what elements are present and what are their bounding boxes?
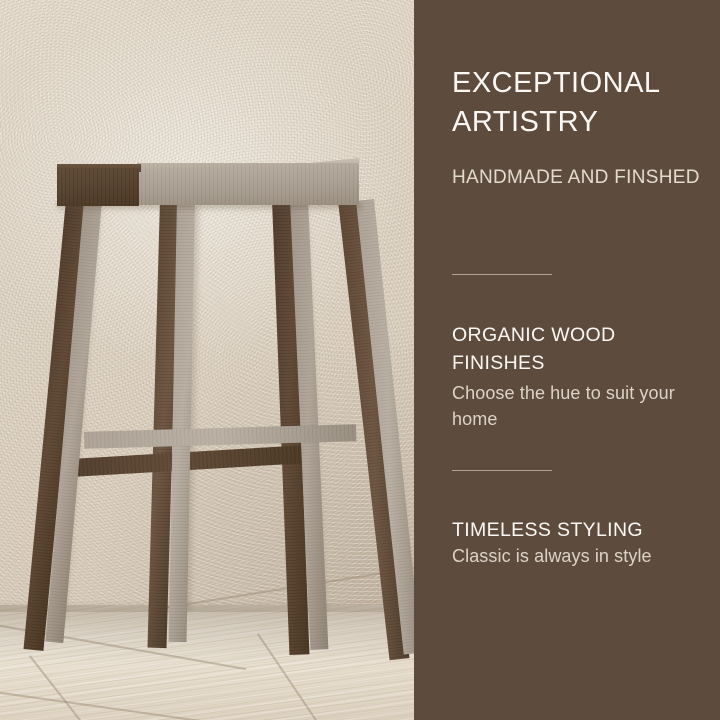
panel-subtitle: HANDMADE AND FINSHED (452, 164, 702, 192)
stool-seat-dark-end (57, 168, 139, 206)
product-photo (0, 0, 414, 720)
feature-1-heading: ORGANIC WOOD FINISHES (452, 322, 704, 377)
marketing-text-panel: EXCEPTIONAL ARTISTRY HANDMADE AND FINSHE… (414, 0, 720, 720)
stool-seat-light (137, 163, 359, 205)
feature-1-body: Choose the hue to suit your home (452, 380, 702, 432)
promo-banner: EXCEPTIONAL ARTISTRY HANDMADE AND FINSHE… (0, 0, 720, 720)
section-divider (452, 274, 552, 275)
feature-2-body: Classic is always in style (452, 543, 702, 569)
feature-2-heading: TIMELESS STYLING (452, 517, 704, 545)
panel-title: EXCEPTIONAL ARTISTRY (452, 64, 704, 141)
section-divider (452, 470, 552, 471)
